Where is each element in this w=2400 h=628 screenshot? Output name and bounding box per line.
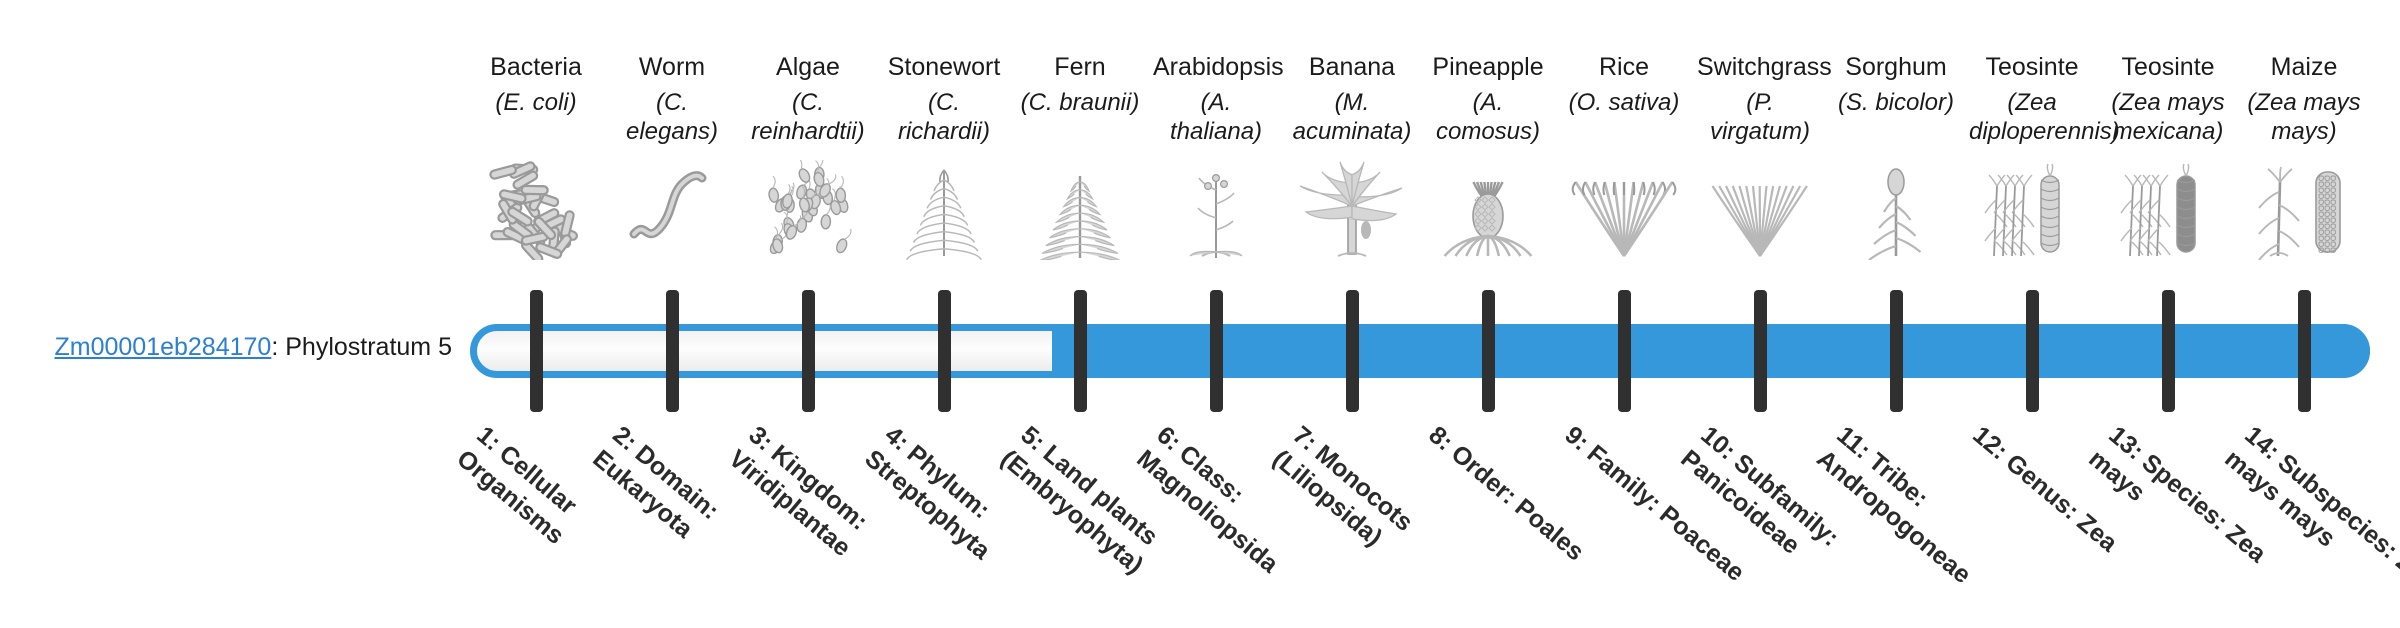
switchgrass-illustration: [1700, 160, 1820, 260]
species-columns: Bacteria(E. coli)Worm(C. elegans)Algae(C…: [470, 52, 2370, 302]
banana-illustration: [1292, 160, 1412, 260]
stonewort-illustration: [884, 160, 1004, 260]
species-scientific-name: (E. coli): [473, 88, 599, 117]
species-scientific-name: (A. thaliana): [1153, 88, 1279, 146]
species-scientific-name: (C. braunii): [1017, 88, 1143, 117]
tick-mark-13: [2162, 290, 2175, 412]
species-common-name: Arabidopsis: [1153, 52, 1279, 82]
species-common-name: Stonewort: [881, 52, 1007, 82]
label-separator: :: [271, 333, 285, 361]
species-scientific-name: (C. elegans): [609, 88, 735, 146]
fern-illustration: [1020, 160, 1140, 260]
rank-name: Order: Poales: [1446, 440, 1590, 567]
algae-illustration: [748, 160, 868, 260]
species-common-name: Pineapple: [1425, 52, 1551, 82]
species-column-rice-9: Rice(O. sativa): [1561, 52, 1687, 117]
bacteria-illustration: [476, 160, 596, 260]
tick-mark-5: [1074, 290, 1087, 412]
species-column-algae-3: Algae(C. reinhardtii): [745, 52, 871, 146]
tick-mark-10: [1754, 290, 1767, 412]
species-column-fern-5: Fern(C. braunii): [1017, 52, 1143, 117]
species-common-name: Worm: [609, 52, 735, 82]
tick-mark-2: [666, 290, 679, 412]
species-scientific-name: (S. bicolor): [1833, 88, 1959, 117]
gene-id-link[interactable]: Zm00001eb284170: [54, 333, 271, 361]
species-scientific-name: (Zea diploperennis): [1969, 88, 2095, 146]
sorghum-illustration: [1836, 160, 1956, 260]
tick-mark-3: [802, 290, 815, 412]
phylostratum-bar[interactable]: [470, 324, 2370, 378]
gene-phylostratum-label: Zm00001eb284170: Phylostratum 5: [0, 332, 452, 362]
species-column-pineapple-8: Pineapple(A. comosus): [1425, 52, 1551, 146]
species-column-worm-2: Worm(C. elegans): [609, 52, 735, 146]
teosinte-diploperennis-illustration: [1972, 160, 2092, 260]
phylostratum-timeline: Zm00001eb284170: Phylostratum 5 Bacteria…: [0, 0, 2400, 580]
rank-labels: 1: Cellular Organisms2: Domain: Eukaryot…: [470, 420, 2370, 580]
arabidopsis-illustration: [1156, 160, 1276, 260]
teosinte-mexicana-illustration: [2108, 160, 2228, 260]
tick-mark-1: [530, 290, 543, 412]
phylostratum-value: : Phylostratum 5: [271, 333, 452, 361]
species-common-name: Maize: [2241, 52, 2367, 82]
species-common-name: Teosinte: [1969, 52, 2095, 82]
species-column-teosinte-12: Teosinte(Zea diploperennis): [1969, 52, 2095, 146]
species-column-maize-14: Maize(Zea mays mays): [2241, 52, 2367, 146]
rank-number: 12:: [1967, 421, 2013, 466]
species-common-name: Switchgrass: [1697, 52, 1823, 82]
maize-illustration: [2244, 160, 2364, 260]
species-scientific-name: (Zea mays mexicana): [2105, 88, 2231, 146]
species-common-name: Fern: [1017, 52, 1143, 82]
species-column-banana-7: Banana(M. acuminata): [1289, 52, 1415, 146]
species-column-bacteria-1: Bacteria(E. coli): [473, 52, 599, 117]
tick-mark-11: [1890, 290, 1903, 412]
tick-mark-9: [1618, 290, 1631, 412]
species-common-name: Teosinte: [2105, 52, 2231, 82]
species-common-name: Algae: [745, 52, 871, 82]
species-scientific-name: (O. sativa): [1561, 88, 1687, 117]
species-scientific-name: (C. richardii): [881, 88, 1007, 146]
species-common-name: Sorghum: [1833, 52, 1959, 82]
species-column-sorghum-11: Sorghum(S. bicolor): [1833, 52, 1959, 117]
species-common-name: Bacteria: [473, 52, 599, 82]
tick-mark-6: [1210, 290, 1223, 412]
species-column-arabidopsis-6: Arabidopsis(A. thaliana): [1153, 52, 1279, 146]
species-common-name: Rice: [1561, 52, 1687, 82]
species-column-stonewort-4: Stonewort(C. richardii): [881, 52, 1007, 146]
tick-mark-4: [938, 290, 951, 412]
phylostratum-text: Phylostratum 5: [285, 333, 452, 361]
species-scientific-name: (C. reinhardtii): [745, 88, 871, 146]
species-scientific-name: (M. acuminata): [1289, 88, 1415, 146]
tick-mark-8: [1482, 290, 1495, 412]
species-common-name: Banana: [1289, 52, 1415, 82]
tick-mark-7: [1346, 290, 1359, 412]
pineapple-illustration: [1428, 160, 1548, 260]
rank-name: Cellular Organisms: [451, 440, 582, 550]
tick-mark-14: [2298, 290, 2311, 412]
species-column-switchgrass-10: Switchgrass(P. virgatum): [1697, 52, 1823, 146]
worm-illustration: [612, 160, 732, 260]
species-scientific-name: (A. comosus): [1425, 88, 1551, 146]
species-scientific-name: (P. virgatum): [1697, 88, 1823, 146]
species-column-teosinte-13: Teosinte(Zea mays mexicana): [2105, 52, 2231, 146]
tick-mark-12: [2026, 290, 2039, 412]
rice-illustration: [1564, 160, 1684, 260]
species-scientific-name: (Zea mays mays): [2241, 88, 2367, 146]
